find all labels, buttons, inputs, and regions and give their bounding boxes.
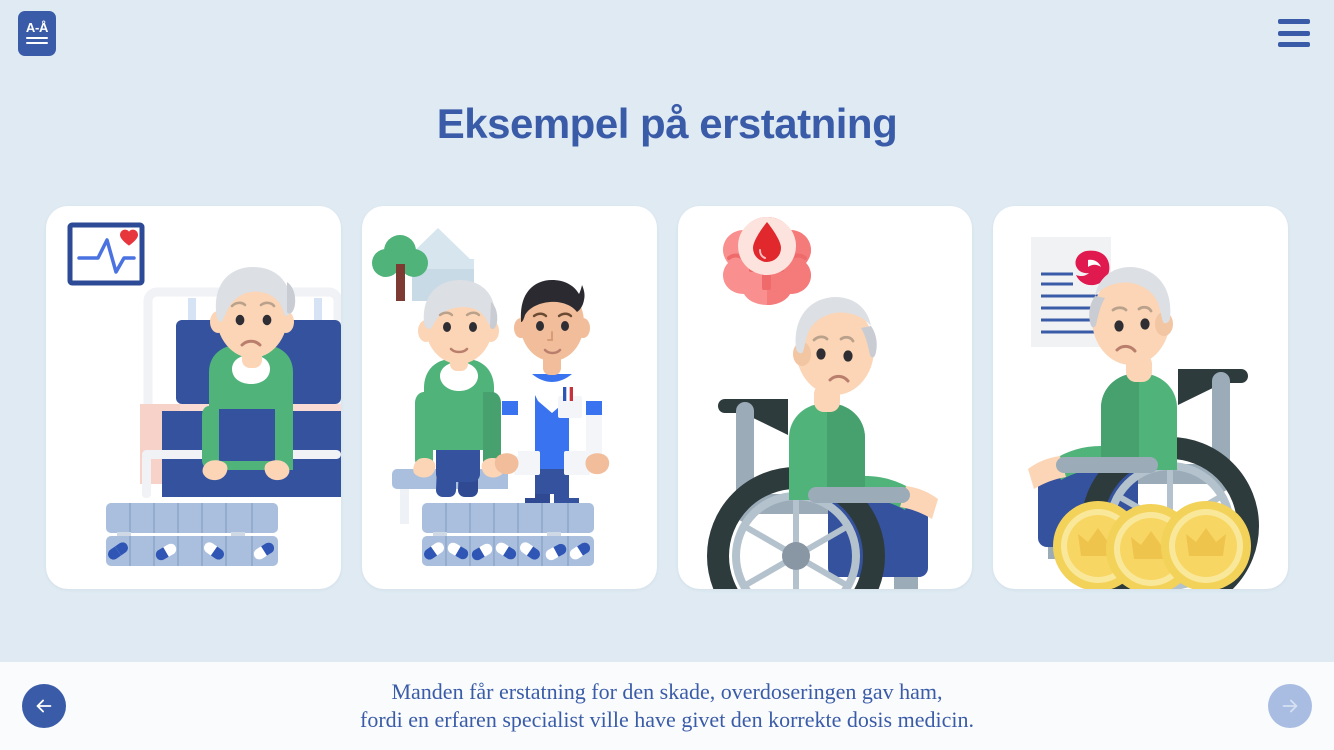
carousel-next-button[interactable] bbox=[1268, 684, 1312, 728]
brain-blood-drop-icon bbox=[723, 217, 811, 305]
text-size-logo[interactable]: A-Å bbox=[18, 11, 56, 56]
scene-elderly-man-in-wheelchair bbox=[678, 206, 973, 589]
scene-elderly-man-with-doctor bbox=[362, 206, 657, 589]
carousel-prev-button[interactable] bbox=[22, 684, 66, 728]
logo-label: A-Å bbox=[26, 21, 48, 34]
ecg-heart-monitor-icon bbox=[70, 225, 142, 283]
card-brain-injury[interactable] bbox=[678, 206, 973, 589]
scene-elderly-man-in-hospital-bed bbox=[46, 206, 341, 589]
caption-line-1: Manden får erstatning for den skade, ove… bbox=[120, 678, 1214, 706]
card-hospital-bed[interactable] bbox=[46, 206, 341, 589]
pill-organizer bbox=[106, 503, 278, 566]
arrow-right-icon bbox=[1279, 695, 1301, 717]
carousel-caption: Manden får erstatning for den skade, ove… bbox=[120, 678, 1214, 734]
scene-elderly-man-in-wheelchair-with-coins bbox=[993, 206, 1288, 589]
app-header: A-Å bbox=[0, 0, 1334, 66]
hamburger-menu-icon[interactable] bbox=[1278, 19, 1310, 47]
arrow-left-icon bbox=[33, 695, 55, 717]
card-doctor-consultation[interactable] bbox=[362, 206, 657, 589]
gold-coins bbox=[1053, 501, 1251, 589]
carousel-footer: Manden får erstatning for den skade, ove… bbox=[0, 662, 1334, 750]
caption-line-2: fordi en erfaren specialist ville have g… bbox=[120, 706, 1214, 734]
logo-lines-icon bbox=[26, 37, 48, 47]
pill-organizer bbox=[422, 503, 594, 566]
card-compensation[interactable] bbox=[993, 206, 1288, 589]
illustration-carousel bbox=[46, 206, 1288, 589]
page-title: Eksempel på erstatning bbox=[0, 100, 1334, 148]
